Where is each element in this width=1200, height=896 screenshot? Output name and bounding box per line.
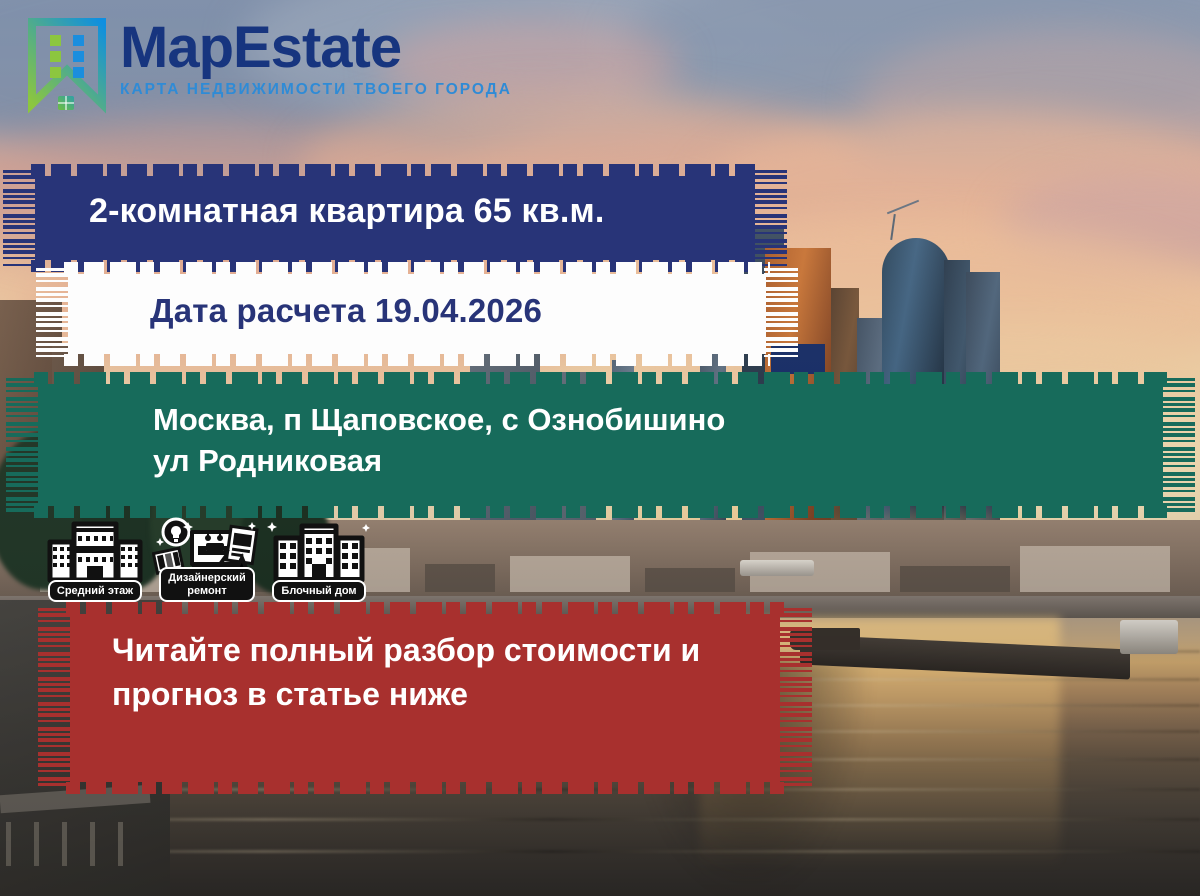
badge-caption: Блочный дом bbox=[272, 580, 365, 602]
address-line-2: ул Родниковая bbox=[153, 441, 1153, 482]
address-line-1: Москва, п Щаповское, с Ознобишино bbox=[153, 400, 1153, 441]
apartment-title-block: 2-комнатная квартира 65 кв.м. bbox=[25, 170, 765, 266]
brand-tagline: КАРТА НЕДВИЖИМОСТИ ТВОЕГО ГОРОДА bbox=[120, 81, 512, 99]
apartment-title-text: 2-комнатная квартира 65 кв.м. bbox=[89, 192, 755, 231]
address-block: Москва, п Щаповское, с Ознобишино ул Род… bbox=[28, 378, 1173, 512]
badge-designer-renovation[interactable]: Дизайнерский ремонт bbox=[152, 516, 262, 602]
panel-block-building-icon bbox=[264, 516, 374, 586]
cta-text: Читайте полный разбор стоимости и прогно… bbox=[112, 628, 750, 716]
calculation-date-block: Дата расчета 19.04.2026 bbox=[58, 268, 776, 360]
brand-logo[interactable]: MapEstate КАРТА НЕДВИЖИМОСТИ ТВОЕГО ГОРО… bbox=[28, 18, 512, 114]
badge-caption: Дизайнерский ремонт bbox=[159, 567, 254, 602]
cta-block[interactable]: Читайте полный разбор стоимости и прогно… bbox=[60, 608, 790, 788]
badge-mid-floor[interactable]: Средний этаж bbox=[40, 516, 150, 602]
address-text: Москва, п Щаповское, с Ознобишино ул Род… bbox=[153, 400, 1153, 482]
badge-block-house[interactable]: Блочный дом bbox=[264, 516, 374, 602]
brand-name: MapEstate bbox=[120, 20, 512, 76]
calculation-date-text: Дата расчета 19.04.2026 bbox=[150, 292, 766, 330]
feature-badges: Средний этаж bbox=[40, 516, 376, 602]
mid-rise-building-icon bbox=[40, 516, 150, 586]
badge-caption: Средний этаж bbox=[48, 580, 142, 602]
bookmark-building-icon bbox=[28, 18, 106, 114]
promo-poster: MapEstate КАРТА НЕДВИЖИМОСТИ ТВОЕГО ГОРО… bbox=[0, 0, 1200, 896]
